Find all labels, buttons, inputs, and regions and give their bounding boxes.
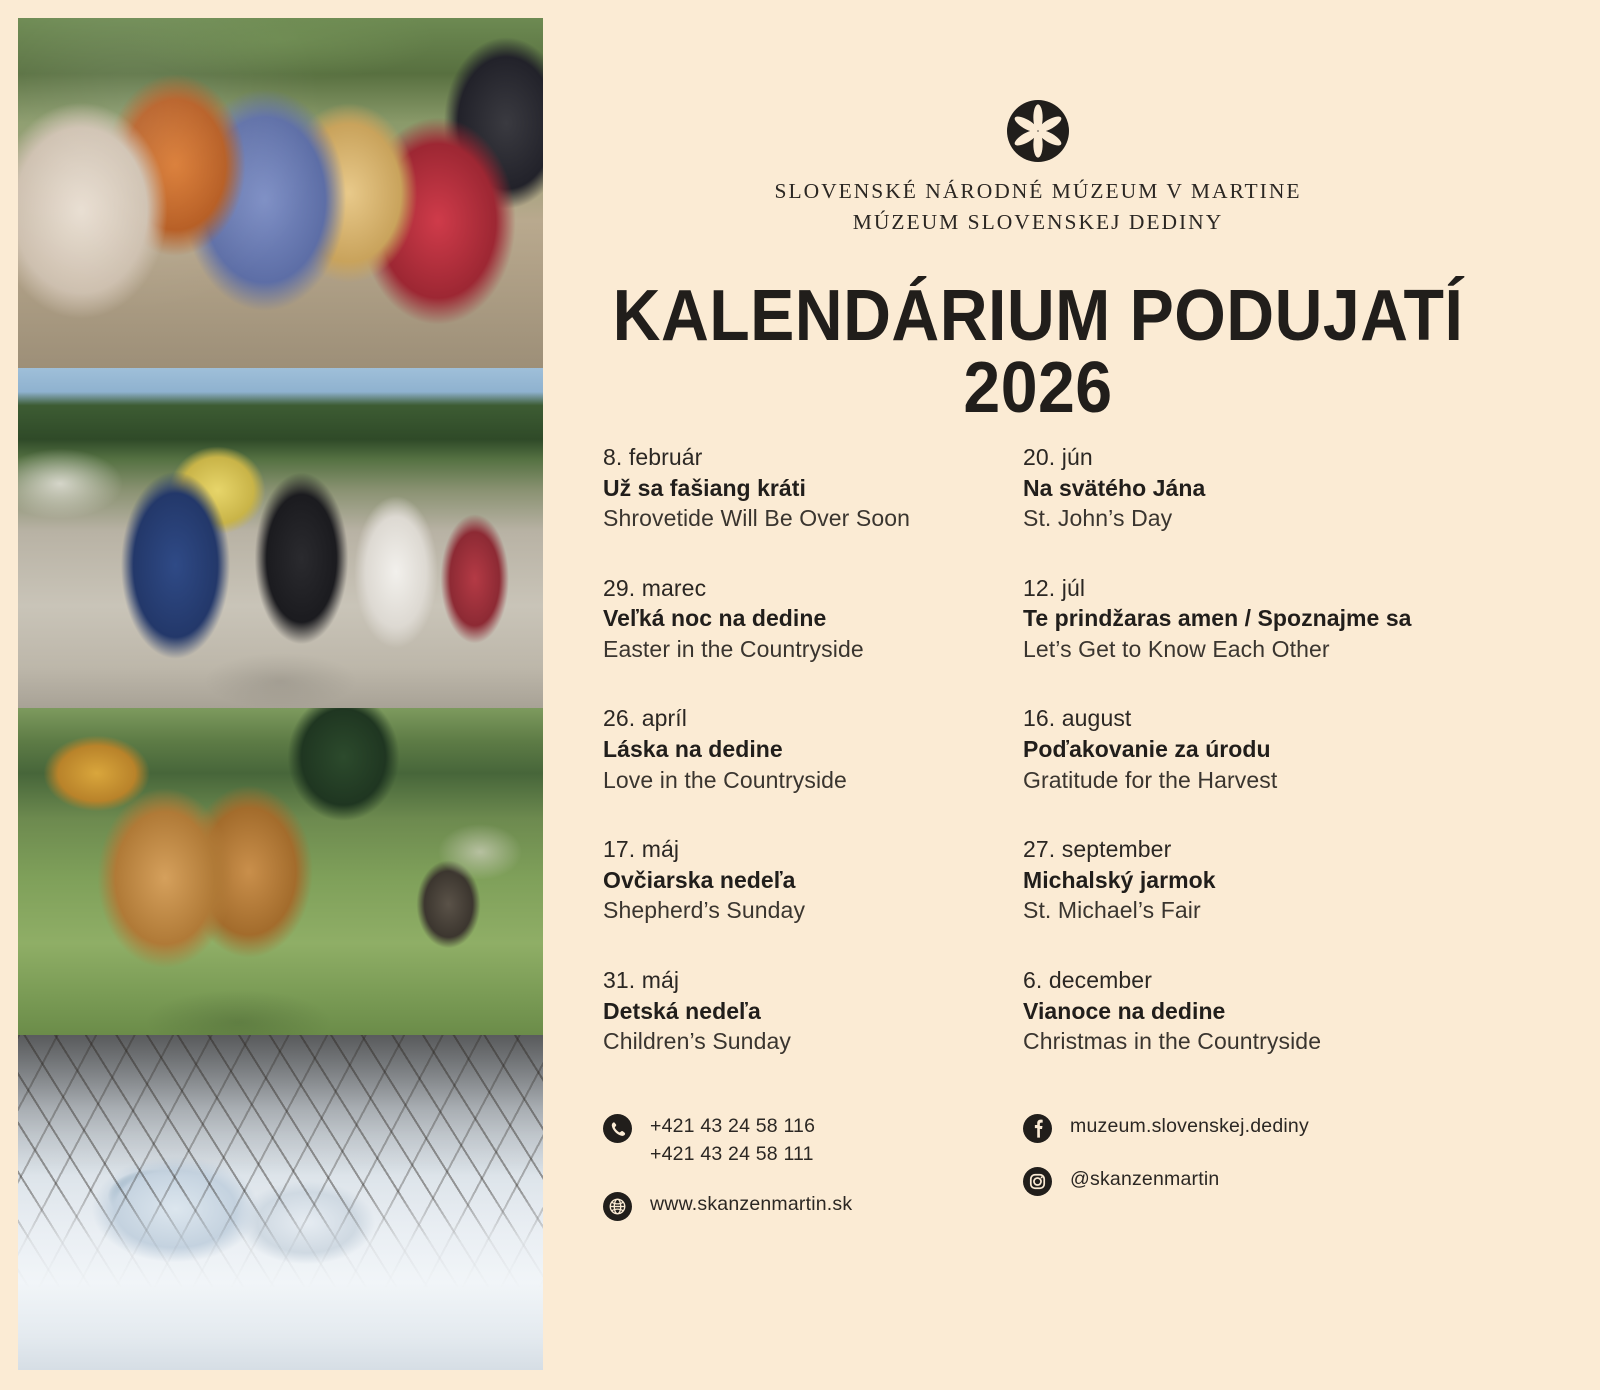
event-title-sk: Michalský jarmok	[1023, 865, 1503, 896]
contact-website[interactable]: www.skanzenmartin.sk	[603, 1190, 1023, 1221]
event-title-en: Shrovetide Will Be Over Soon	[603, 503, 1023, 534]
event-item: 8. február Už sa fašiang kráti Shrovetid…	[603, 442, 1023, 534]
event-date: 8. február	[603, 442, 1023, 473]
globe-icon	[603, 1192, 632, 1221]
contact-phone[interactable]: +421 43 24 58 116 +421 43 24 58 111	[603, 1112, 1023, 1168]
event-date: 6. december	[1023, 965, 1503, 996]
phone-numbers: +421 43 24 58 116 +421 43 24 58 111	[650, 1112, 815, 1168]
event-item: 29. marec Veľká noc na dedine Easter in …	[603, 573, 1023, 665]
event-item: 31. máj Detská nedeľa Children’s Sunday	[603, 965, 1023, 1057]
event-item: 20. jún Na svätého Jána St. John’s Day	[1023, 442, 1503, 534]
event-date: 31. máj	[603, 965, 1023, 996]
museum-name-line-1: SLOVENSKÉ NÁRODNÉ MÚZEUM V MARTINE	[543, 176, 1533, 207]
event-title-sk: Detská nedeľa	[603, 996, 1023, 1027]
event-title-sk: Veľká noc na dedine	[603, 603, 1023, 634]
photo-folk-procession	[18, 368, 543, 708]
events-grid: 8. február Už sa fašiang kráti Shrovetid…	[603, 442, 1543, 1057]
instagram-handle: @skanzenmartin	[1070, 1165, 1219, 1194]
event-item: 6. december Vianoce na dedine Christmas …	[1023, 965, 1503, 1057]
museum-rosette-logo-icon	[1007, 100, 1069, 162]
event-item: 16. august Poďakovanie za úrodu Gratitud…	[1023, 703, 1503, 795]
event-date: 17. máj	[603, 834, 1023, 865]
event-title-en: Let’s Get to Know Each Other	[1023, 634, 1503, 665]
instagram-icon	[1023, 1167, 1052, 1196]
event-title-en: Love in the Countryside	[603, 765, 1023, 796]
events-column-left: 8. február Už sa fašiang kráti Shrovetid…	[603, 442, 1023, 1057]
event-title-sk: Poďakovanie za úrodu	[1023, 734, 1503, 765]
events-column-right: 20. jún Na svätého Jána St. John’s Day 1…	[1023, 442, 1503, 1057]
event-title-en: Shepherd’s Sunday	[603, 895, 1023, 926]
event-title-en: Christmas in the Countryside	[1023, 1026, 1503, 1057]
photo-strip	[18, 18, 543, 1370]
event-item: 26. apríl Láska na dedine Love in the Co…	[603, 703, 1023, 795]
contact-facebook[interactable]: muzeum.slovenskej.dediny	[1023, 1112, 1503, 1143]
event-item: 27. september Michalský jarmok St. Micha…	[1023, 834, 1503, 926]
event-item: 17. máj Ovčiarska nedeľa Shepherd’s Sund…	[603, 834, 1023, 926]
photo-horses-plough	[18, 708, 543, 1035]
contact-section: +421 43 24 58 116 +421 43 24 58 111 www.…	[603, 1112, 1543, 1221]
poster-content: SLOVENSKÉ NÁRODNÉ MÚZEUM V MARTINE MÚZEU…	[543, 0, 1600, 1390]
phone-icon	[603, 1114, 632, 1143]
event-title-sk: Láska na dedine	[603, 734, 1023, 765]
event-title-en: Children’s Sunday	[603, 1026, 1023, 1057]
event-title-sk: Ovčiarska nedeľa	[603, 865, 1023, 896]
event-date: 20. jún	[1023, 442, 1503, 473]
event-title-en: Easter in the Countryside	[603, 634, 1023, 665]
facebook-handle: muzeum.slovenskej.dediny	[1070, 1112, 1309, 1141]
museum-logo-block: SLOVENSKÉ NÁRODNÉ MÚZEUM V MARTINE MÚZEU…	[543, 100, 1533, 237]
event-date: 16. august	[1023, 703, 1503, 734]
event-title-sk: Už sa fašiang kráti	[603, 473, 1023, 504]
website-url: www.skanzenmartin.sk	[650, 1190, 852, 1219]
contact-instagram[interactable]: @skanzenmartin	[1023, 1165, 1503, 1196]
event-title-sk: Vianoce na dedine	[1023, 996, 1503, 1027]
page-title: KALENDÁRIUM PODUJATÍ 2026	[583, 280, 1494, 424]
facebook-icon	[1023, 1114, 1052, 1143]
event-item: 12. júl Te prindžaras amen / Spoznajme s…	[1023, 573, 1503, 665]
event-date: 26. apríl	[603, 703, 1023, 734]
museum-name-line-2: MÚZEUM SLOVENSKEJ DEDINY	[543, 207, 1533, 238]
event-title-sk: Te prindžaras amen / Spoznajme sa	[1023, 603, 1503, 634]
event-title-en: St. John’s Day	[1023, 503, 1503, 534]
contact-column-left: +421 43 24 58 116 +421 43 24 58 111 www.…	[603, 1112, 1023, 1221]
event-date: 12. júl	[1023, 573, 1503, 604]
contact-column-right: muzeum.slovenskej.dediny @skanzenmartin	[1023, 1112, 1503, 1221]
event-title-en: Gratitude for the Harvest	[1023, 765, 1503, 796]
photo-children-folk-costumes	[18, 18, 543, 368]
event-title-en: St. Michael’s Fair	[1023, 895, 1503, 926]
event-date: 27. september	[1023, 834, 1503, 865]
event-date: 29. marec	[603, 573, 1023, 604]
event-title-sk: Na svätého Jána	[1023, 473, 1503, 504]
photo-winter-village	[18, 1035, 543, 1370]
